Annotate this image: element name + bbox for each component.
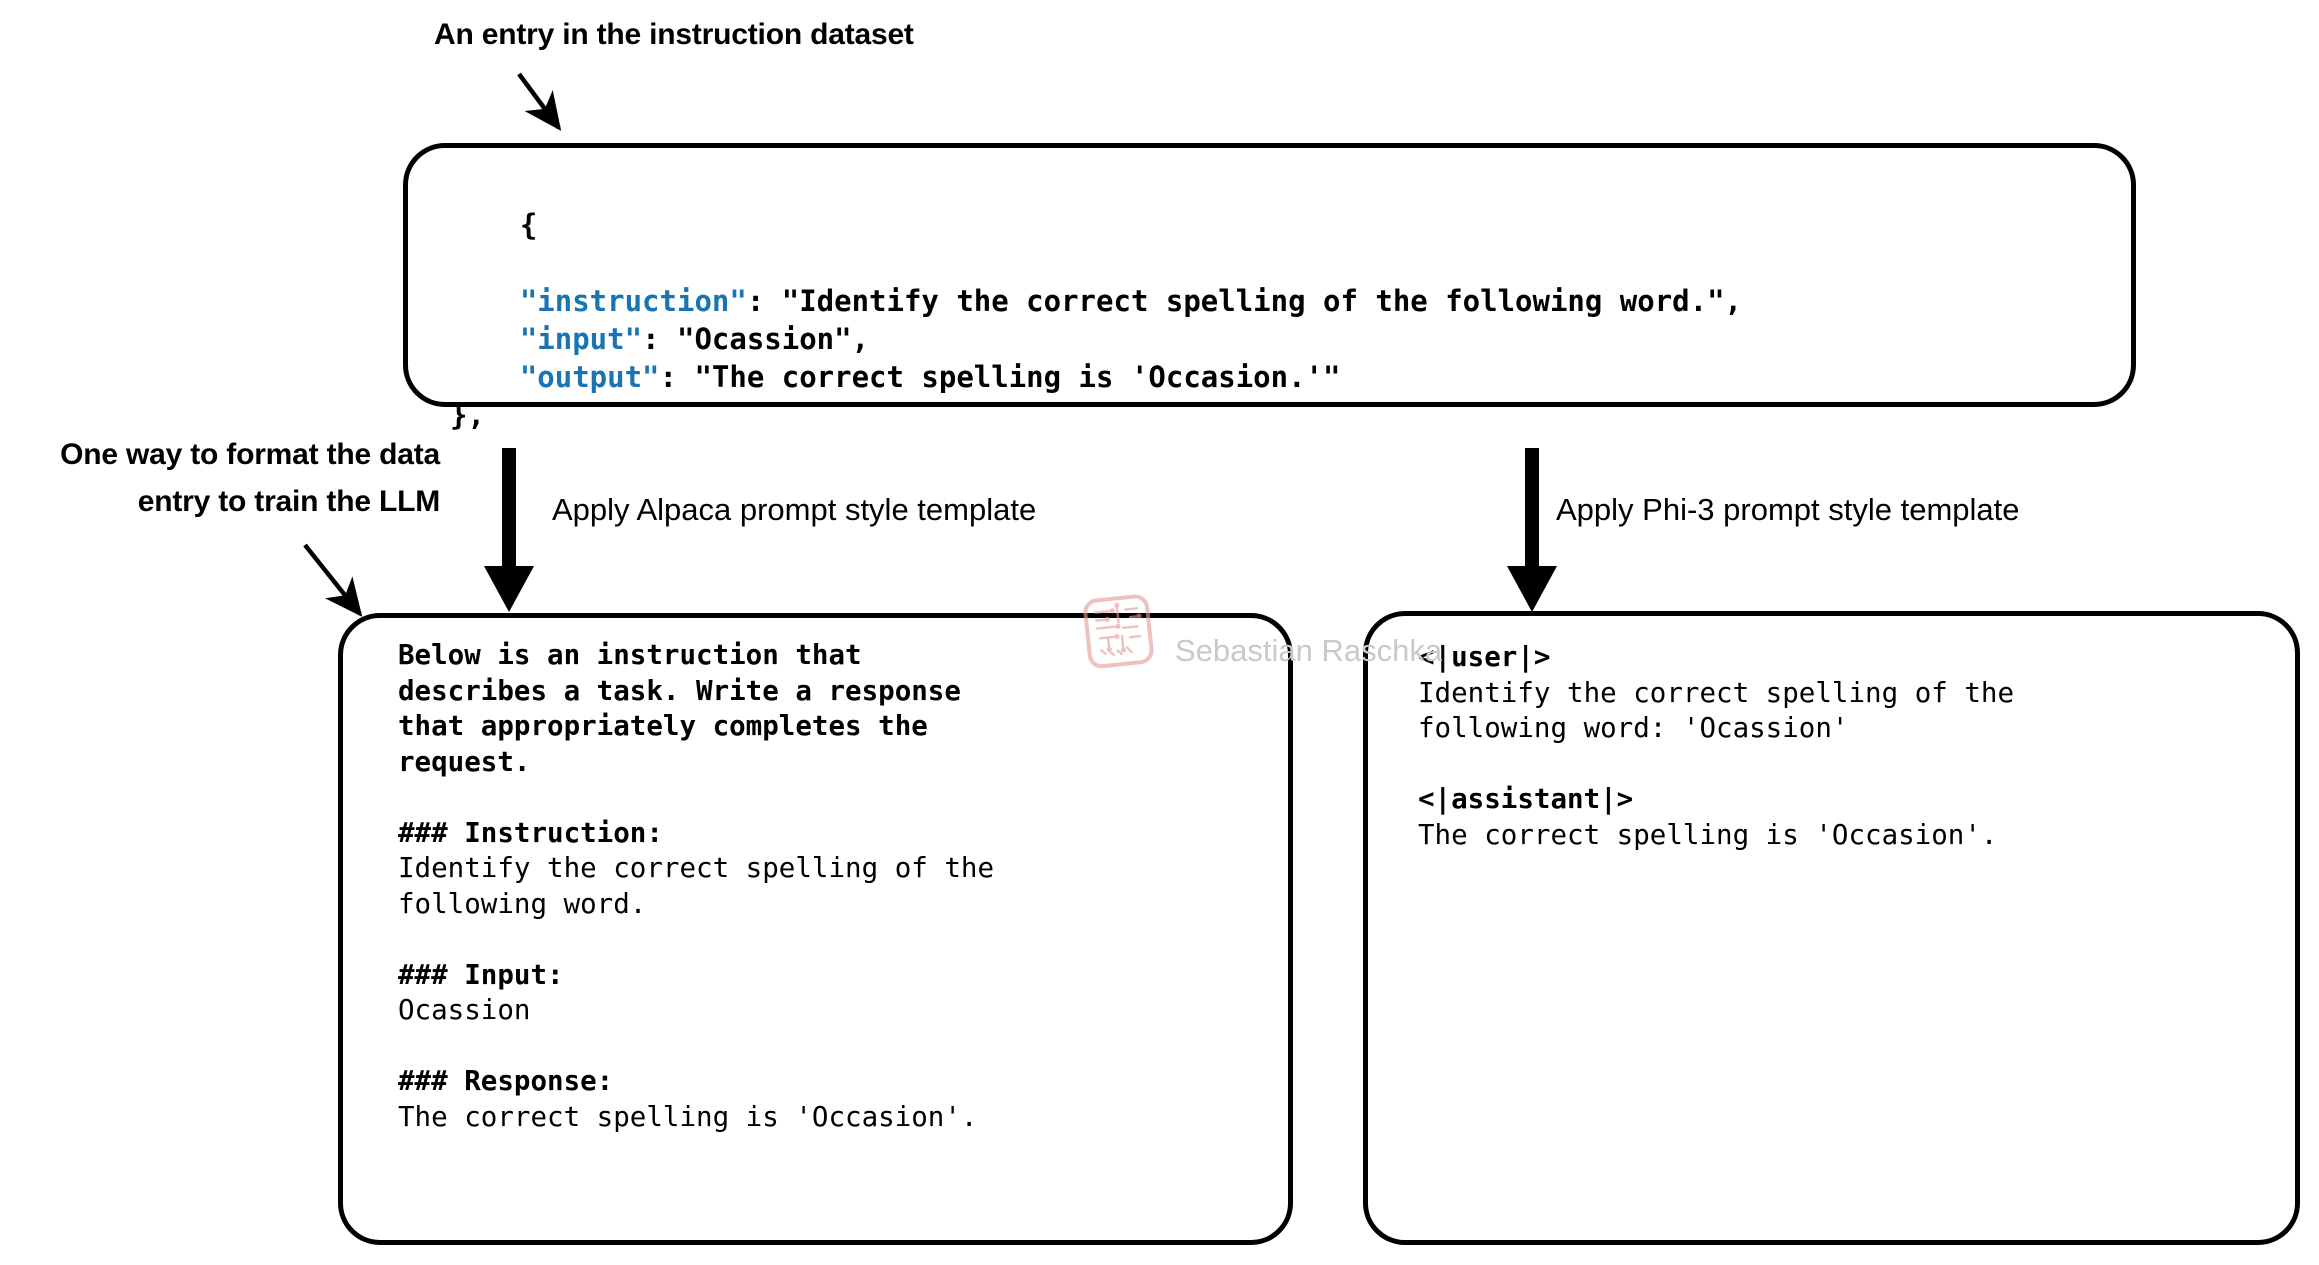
alpaca-prompt-code: Below is an instruction that describes a… (398, 638, 994, 1135)
alpaca-instruction-header: ### Instruction: (398, 817, 663, 849)
arrow-annotation-to-alpaca-box (305, 545, 360, 614)
watermark-label: Sebastian Raschka (1175, 633, 1442, 669)
phi3-prompt-code: <|user|> Identify the correct spelling o… (1418, 640, 2014, 853)
annotation-dataset-entry: An entry in the instruction dataset (434, 12, 914, 59)
caption-apply-phi3-template: Apply Phi-3 prompt style template (1556, 492, 2020, 528)
json-value-input: "Ocassion", (677, 322, 869, 356)
json-open-brace: { (520, 208, 537, 242)
arrow-to-phi3-template (1507, 448, 1557, 612)
json-value-output: "The correct spelling is 'Occasion.'" (694, 360, 1340, 394)
json-sep-1: : (642, 322, 677, 356)
json-sep-2: : (660, 360, 695, 394)
alpaca-input-header: ### Input: (398, 959, 564, 991)
phi3-assistant-header: <|assistant|> (1418, 783, 1633, 815)
json-key-instruction: "instruction" (520, 284, 747, 318)
json-key-output: "output" (520, 360, 660, 394)
phi3-user-body: Identify the correct spelling of the fol… (1418, 677, 2014, 745)
alpaca-preamble: Below is an instruction that describes a… (398, 639, 961, 778)
annotation-format-data-entry: One way to format the data entry to trai… (10, 432, 440, 525)
dataset-entry-code: { "instruction": "Identify the correct s… (450, 168, 1742, 434)
json-sep-0: : (747, 284, 782, 318)
arrow-annotation-to-dataset-box (519, 74, 559, 128)
alpaca-response-header: ### Response: (398, 1065, 613, 1097)
caption-apply-alpaca-template: Apply Alpaca prompt style template (552, 492, 1036, 528)
json-close-brace: }, (450, 398, 485, 432)
arrow-to-alpaca-template (484, 448, 534, 612)
phi3-assistant-body: The correct spelling is 'Occasion'. (1418, 819, 1997, 851)
alpaca-instruction-body: Identify the correct spelling of the fol… (398, 852, 994, 920)
diagram-canvas: An entry in the instruction dataset One … (0, 0, 2319, 1265)
json-value-instruction: "Identify the correct spelling of the fo… (782, 284, 1742, 318)
alpaca-input-body: Ocassion (398, 994, 530, 1026)
alpaca-response-body: The correct spelling is 'Occasion'. (398, 1101, 977, 1133)
json-key-input: "input" (520, 322, 642, 356)
